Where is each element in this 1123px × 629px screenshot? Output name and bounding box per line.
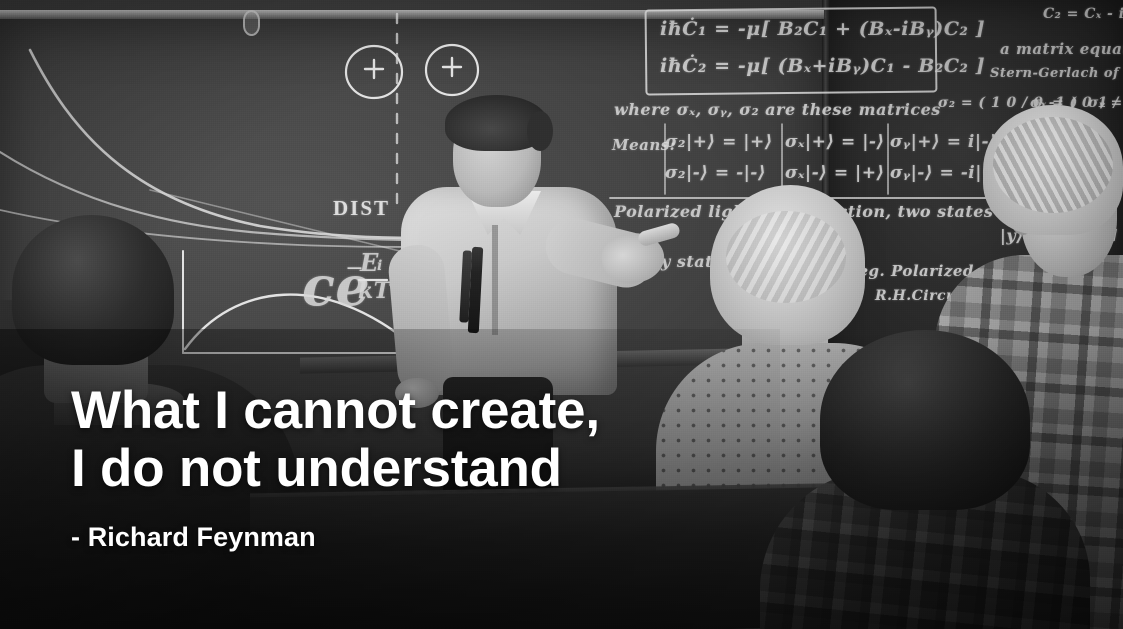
- lecturer-hair: [445, 95, 548, 151]
- quote-attribution: - Richard Feynman: [71, 522, 771, 553]
- person-student-dark-right: [800, 330, 1100, 629]
- person-lecturer-feynman: [395, 95, 660, 425]
- student-dark-right-hair: [820, 330, 1030, 510]
- boxed-equations-frame: [645, 6, 938, 95]
- student-plaid-hair: [983, 105, 1123, 235]
- quote-line-2: I do not understand: [71, 440, 771, 498]
- student-blonde-hair: [710, 185, 865, 345]
- student-left-hair: [12, 215, 174, 365]
- lecturer-shirt-placket: [492, 225, 498, 335]
- quote-overlay: What I cannot create, I do not understan…: [71, 382, 771, 553]
- rail-clip-icon: [243, 10, 260, 36]
- quote-image: DIST ce − E i kT iħĊ₁ = -μ[ B₂C₁ + (Bₓ-…: [0, 0, 1123, 629]
- quote-line-1: What I cannot create,: [71, 382, 771, 440]
